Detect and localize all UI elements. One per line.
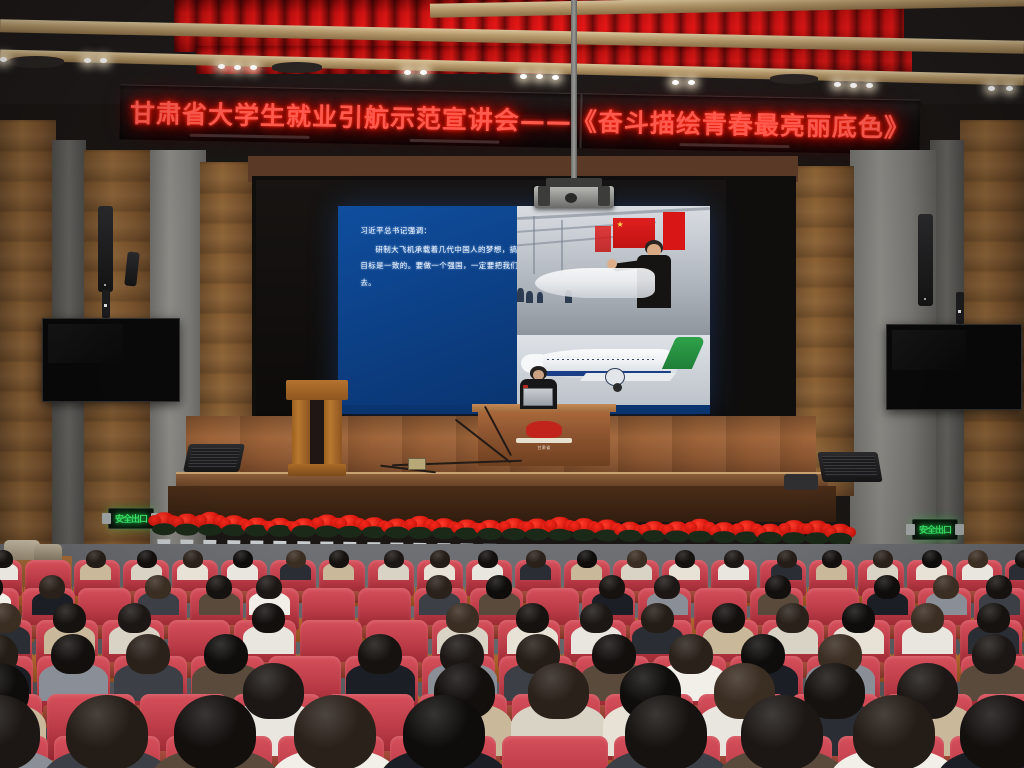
tv-mount-arm-right xyxy=(956,292,964,324)
audience-member xyxy=(286,550,306,582)
audience-member xyxy=(577,550,597,582)
wedge-grille xyxy=(188,448,240,467)
audience-head xyxy=(86,550,106,568)
ceiling-spotlight xyxy=(688,80,695,85)
auditorium-seat xyxy=(166,736,272,768)
audience-head xyxy=(654,575,680,599)
lectern-base xyxy=(288,464,346,476)
ceiling-spotlight xyxy=(420,70,427,75)
stage-flower xyxy=(152,511,176,545)
audience-head xyxy=(486,575,512,599)
stage-wedge-monitor-right xyxy=(817,452,882,482)
exit-sign-bracket xyxy=(906,524,915,535)
audience-head xyxy=(986,575,1012,599)
audience-head xyxy=(599,575,625,599)
audience-member xyxy=(294,695,376,768)
photo-china-flag-small xyxy=(595,226,611,252)
audience-head xyxy=(933,575,959,599)
audience-head xyxy=(724,550,744,568)
audience-member xyxy=(627,550,647,582)
audience-head xyxy=(174,695,256,768)
exit-sign-bracket xyxy=(102,513,111,524)
tv-screen-reflection xyxy=(892,330,966,370)
audience-member xyxy=(526,550,546,582)
audience-member xyxy=(174,695,256,768)
audience-head xyxy=(822,550,842,568)
audience-head xyxy=(977,603,1010,633)
ceiling-speaker-pod xyxy=(8,56,64,68)
photo-support-column xyxy=(561,220,563,276)
ceiling-speaker-pod xyxy=(272,62,322,73)
audience-member xyxy=(911,603,944,657)
flower-foliage xyxy=(175,523,199,535)
photo-crowd xyxy=(517,288,524,302)
auditorium-seat xyxy=(278,736,384,768)
flower-foliage xyxy=(665,530,689,542)
audience-head xyxy=(765,575,791,599)
audience-head xyxy=(39,575,65,599)
c919-window-row xyxy=(547,359,657,360)
audience-head xyxy=(580,603,613,633)
audience-head xyxy=(526,550,546,568)
auditorium-seat xyxy=(950,736,1024,768)
audience-head xyxy=(853,695,935,768)
auditorium-seat xyxy=(726,736,832,768)
audience-member xyxy=(822,550,842,582)
audience-head xyxy=(968,550,988,568)
audience-head xyxy=(256,575,282,599)
audience-head xyxy=(51,634,95,674)
emblem-base-bar xyxy=(516,438,572,443)
speaker-indicator-led xyxy=(924,298,926,300)
audience-head xyxy=(960,695,1024,768)
audience-head xyxy=(625,695,707,768)
speaker-indicator-led xyxy=(104,284,106,286)
ceiling-spotlight xyxy=(218,64,225,69)
audience-head xyxy=(741,695,823,768)
audience-head xyxy=(528,663,589,719)
ceiling-spotlight xyxy=(866,83,873,88)
audience-head xyxy=(922,550,942,568)
projector-mount-pole xyxy=(571,0,577,178)
emblem-red-motif xyxy=(526,421,562,438)
stage-flower xyxy=(338,514,362,548)
audience-head xyxy=(675,550,695,568)
banner-reflection xyxy=(190,134,310,139)
audience-member xyxy=(741,695,823,768)
audience-member xyxy=(1015,550,1024,582)
banner-reflection xyxy=(410,139,500,144)
lectern-recess xyxy=(310,400,324,466)
photo-support-column xyxy=(533,216,535,274)
lectern-column-right xyxy=(324,400,342,466)
audience-member xyxy=(625,695,707,768)
audience-head xyxy=(206,575,232,599)
audience-member xyxy=(0,695,40,768)
auditorium-seat xyxy=(614,736,720,768)
banner-reflection xyxy=(680,143,790,148)
auditorium-seat xyxy=(502,736,608,768)
auditorium-seat xyxy=(0,736,48,768)
audience-head xyxy=(972,634,1016,674)
wedge-grille xyxy=(822,456,878,477)
ceiling-spotlight xyxy=(100,58,107,63)
projector-mount-bracket xyxy=(546,178,602,187)
ceiling-spotlight xyxy=(520,74,527,79)
lectern xyxy=(286,380,348,476)
ceiling-spotlight xyxy=(404,70,411,75)
audience-head xyxy=(384,550,404,568)
audience-member xyxy=(968,550,988,582)
exit-sign-text: 安全出口 xyxy=(115,512,147,525)
ceiling-spotlight xyxy=(672,80,679,85)
audience-head xyxy=(358,634,402,674)
audience-head xyxy=(446,603,479,633)
photo-crowd xyxy=(526,291,533,303)
ceiling-spotlight xyxy=(536,74,543,79)
audience-head xyxy=(126,634,170,674)
audience-head xyxy=(712,603,745,633)
audience-head xyxy=(118,603,151,633)
flower-foliage xyxy=(781,532,805,544)
audience-head xyxy=(183,550,203,568)
stage-side-speaker-right xyxy=(784,474,818,490)
projector-lens xyxy=(565,193,577,203)
line-array-speaker-right xyxy=(918,214,933,306)
audience-head xyxy=(842,603,875,633)
photo-flag-star: ★ xyxy=(617,221,624,229)
head-table: 甘肃省 xyxy=(478,410,610,466)
audience-head xyxy=(294,695,376,768)
exit-sign-bracket xyxy=(955,524,964,535)
ceiling-spotlight xyxy=(834,82,841,87)
audience-member xyxy=(960,695,1024,768)
flower-foliage xyxy=(525,528,549,540)
stage-flower xyxy=(315,513,339,547)
audience-member xyxy=(183,550,203,582)
ceiling-spotlight xyxy=(234,65,241,70)
stage-flower xyxy=(198,512,222,546)
audience-head xyxy=(777,550,797,568)
exit-sign-text: 安全出口 xyxy=(919,523,951,536)
tv-display-right xyxy=(886,324,1022,410)
head-table-emblem: 甘肃省 xyxy=(510,421,578,455)
audience-head xyxy=(233,550,253,568)
tv-mount-led-left xyxy=(104,304,107,307)
audience-head xyxy=(53,603,86,633)
ceiling-spotlight xyxy=(850,83,857,88)
photo-upper-plane-body xyxy=(535,268,655,298)
ceiling-spotlight xyxy=(0,57,7,62)
audience-head xyxy=(329,550,349,568)
ceiling-spotlight xyxy=(250,65,257,70)
auditorium-seat xyxy=(54,736,160,768)
audience-member xyxy=(66,695,148,768)
audience-member xyxy=(384,550,404,582)
audience-head xyxy=(478,550,498,568)
projector-foot xyxy=(538,186,550,206)
audience-member xyxy=(233,550,253,582)
emblem-text: 甘肃省 xyxy=(510,445,578,451)
seat-backrest xyxy=(502,736,608,768)
c919-landing-gear xyxy=(613,383,622,392)
audience-member xyxy=(252,603,285,657)
flower-foliage xyxy=(292,525,316,537)
auditorium-seat xyxy=(838,736,944,768)
audience-head xyxy=(145,575,171,599)
audience-head xyxy=(641,603,674,633)
audience-head xyxy=(286,550,306,568)
audience-member xyxy=(86,550,106,582)
seat-row xyxy=(0,736,1024,768)
auditorium-seat xyxy=(390,736,496,768)
audience-head xyxy=(430,550,450,568)
projector-foot xyxy=(598,186,610,206)
audience-head xyxy=(66,695,148,768)
audience-head xyxy=(137,550,157,568)
c919-tail-fin xyxy=(661,337,705,369)
ceiling-spotlight xyxy=(552,75,559,80)
audience-head xyxy=(252,603,285,633)
audience-member xyxy=(724,550,744,582)
audience-head xyxy=(403,695,485,768)
line-array-speaker-left xyxy=(98,206,113,292)
ceiling-spotlight xyxy=(84,58,91,63)
audience-head xyxy=(776,603,809,633)
auditorium-photo: 甘肃省大学生就业引航示范宣讲会——《奋斗描绘青春最亮丽底色》 习近平总书记强调：… xyxy=(0,0,1024,768)
flower-foliage xyxy=(758,532,782,544)
audience-head xyxy=(577,550,597,568)
tv-screen-reflection xyxy=(48,324,123,363)
photo-crowd xyxy=(537,292,543,303)
audience-head xyxy=(874,575,900,599)
tv-mount-led-right xyxy=(958,310,961,313)
audience-member xyxy=(403,695,485,768)
audience-member xyxy=(206,575,232,618)
audience-head xyxy=(1015,550,1024,568)
presenter-laptop xyxy=(523,388,553,406)
ceiling-spotlight xyxy=(1006,86,1013,91)
tv-display-left xyxy=(42,318,180,402)
audience-member xyxy=(329,550,349,582)
audience-head xyxy=(204,634,248,674)
audience-head xyxy=(627,550,647,568)
lectern-column-left xyxy=(292,400,310,466)
audience-head xyxy=(873,550,893,568)
stage-cable-junction-box xyxy=(408,458,426,470)
ceiling-spotlight xyxy=(988,86,995,91)
c919-wing xyxy=(579,373,675,381)
ceiling-speaker-pod xyxy=(770,74,818,84)
audience-head xyxy=(426,575,452,599)
stage-wedge-monitor-left xyxy=(183,444,245,472)
lectern-top xyxy=(286,380,348,400)
audience-head xyxy=(516,603,549,633)
audience-head xyxy=(911,603,944,633)
audience-member xyxy=(853,695,935,768)
audience-member xyxy=(874,575,900,618)
exit-sign-right: 安全出口 xyxy=(912,519,958,540)
audience-member xyxy=(486,575,512,618)
